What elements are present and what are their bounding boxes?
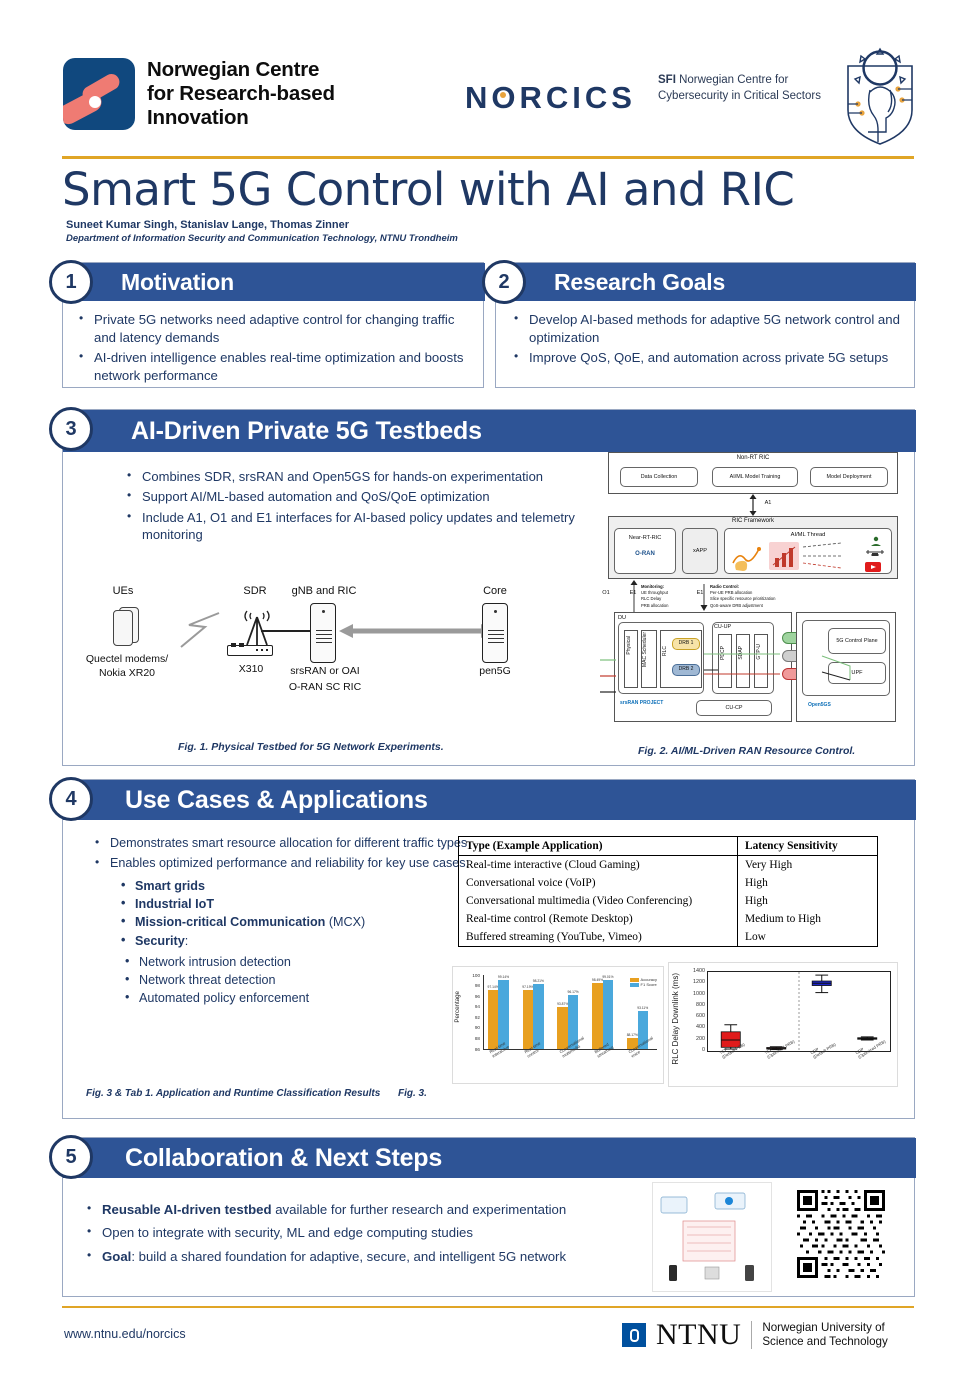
footer-url[interactable]: www.ntnu.edu/norcics: [64, 1327, 186, 1341]
gnb-server-icon: [310, 603, 336, 663]
collaboration-bullet-list: Reusable AI-driven testbed available for…: [85, 1200, 695, 1267]
y-tick-label: 86: [466, 1047, 480, 1052]
gnb-core-bidirectional-arrow: [337, 621, 497, 641]
testbeds-bullet-list: Combines SDR, srsRAN and Open5GS for han…: [125, 468, 620, 544]
aiml-model-training-box: AI/ML Model Training: [712, 467, 798, 487]
poster-header: Norwegian Centre for Research-based Inno…: [60, 38, 915, 148]
fig1-sdr-sub: X310: [223, 663, 279, 675]
ntnu-logo: NTNU Norwegian University of Science and…: [622, 1318, 888, 1352]
a1-label: A1: [760, 500, 776, 506]
model-deployment-box: Model Deployment: [810, 467, 888, 487]
y-tick-label: 1200: [685, 979, 705, 985]
non-rt-ric-label: Non-RT RIC: [608, 455, 898, 461]
youtube-icon: [865, 562, 881, 572]
norcics-tagline-prefix: SFI: [658, 74, 676, 86]
table-row: Conversational multimedia (Video Confere…: [459, 892, 878, 910]
o1-e1-arrows: [600, 578, 720, 612]
y-tick-label: 1400: [685, 968, 705, 974]
table-cell-type: Real-time control (Remote Desktop): [459, 910, 738, 928]
section-4-title: Use Cases & Applications: [125, 786, 428, 815]
bar-chart-legend: Accuracy F1 Score: [630, 977, 657, 987]
sfi-logo: Norwegian Centre for Research-based Inno…: [63, 58, 335, 130]
drone-icon: [863, 549, 887, 559]
table-row: Real-time interactive (Cloud Gaming)Very…: [459, 856, 878, 875]
sfi-logo-line1: Norwegian Centre: [147, 58, 335, 82]
bullet-rest: : build a shared foundation for adaptive…: [131, 1249, 566, 1264]
figure-3-bar-chart: Percentage 97.14%97.19%93.87%98.49%88.17…: [452, 966, 664, 1084]
ntnu-subtitle: Norwegian University of Science and Tech…: [762, 1321, 887, 1350]
bar-0-1: [523, 990, 533, 1049]
use-case-label: Mission-critical Communication: [135, 915, 325, 929]
list-item: Automated policy enforcement: [123, 989, 483, 1007]
list-item: AI-driven intelligence enables real-time…: [77, 349, 475, 384]
figure-2-ran-resource-control: Non-RT RIC Data Collection AI/ML Model T…: [600, 450, 905, 740]
core-server-icon: [482, 603, 508, 663]
list-item: Combines SDR, srsRAN and Open5GS for han…: [125, 468, 620, 485]
table-cell-type: Real-time interactive (Cloud Gaming): [459, 856, 738, 875]
bar-0-2: [557, 1007, 567, 1049]
section-4-body: Demonstrates smart resource allocation f…: [93, 835, 483, 1008]
section-4-header: 4 Use Cases & Applications: [63, 780, 916, 820]
y-tick-label: 94: [466, 1004, 480, 1009]
y-tick-label: 800: [685, 1002, 705, 1008]
table-cell-type: Conversational multimedia (Video Confere…: [459, 892, 738, 910]
research-goals-bullet-list: Develop AI-based methods for adaptive 5G…: [512, 311, 908, 367]
authors: Suneet Kumar Singh, Stanislav Lange, Tho…: [66, 219, 349, 231]
use-cases-bullet-list: Demonstrates smart resource allocation f…: [93, 835, 483, 872]
use-case-suffix: (MCX): [325, 915, 365, 929]
fig1-gnb-sub2: O-RAN SC RIC: [275, 681, 375, 693]
y-tick-label: 1000: [685, 991, 705, 997]
y-tick-label: 200: [685, 1036, 705, 1042]
fig1-sdr-title: SDR: [225, 585, 285, 597]
table-cell-latency: Medium to High: [738, 910, 878, 928]
security-sublist: Network intrusion detection Network thre…: [123, 953, 483, 1008]
section-5-number: 5: [49, 1135, 93, 1179]
y-tick-label: 98: [466, 983, 480, 988]
ntnu-subtitle-line1: Norwegian University of: [762, 1321, 887, 1335]
motivation-bullet-list: Private 5G networks need adaptive contro…: [77, 311, 475, 385]
section-3-body: Combines SDR, srsRAN and Open5GS for han…: [125, 468, 620, 547]
y-tick-label: 0: [685, 1047, 705, 1053]
section-1-title: Motivation: [121, 269, 234, 296]
list-item: Network intrusion detection: [123, 953, 483, 971]
table-row: Conversational voice (VoIP)High: [459, 874, 878, 892]
use-case-sublist: Smart grids Industrial IoT Mission-criti…: [119, 877, 483, 950]
fig1-gnb-sub1: srsRAN or OAI: [275, 665, 375, 677]
section-2-number: 2: [482, 260, 526, 304]
ntnu-subtitle-line2: Science and Technology: [762, 1335, 887, 1349]
box-plot-svg: [708, 972, 890, 1051]
figure-3-caption-right: Fig. 3.: [398, 1088, 427, 1099]
list-item: Enables optimized performance and reliab…: [93, 855, 483, 872]
section-3-header: 3 AI-Driven Private 5G Testbeds: [63, 410, 916, 452]
fig1-core-title: Core: [465, 585, 525, 597]
bar-value-label: 99.01%: [598, 975, 618, 979]
figure-3-caption-left: Fig. 3 & Tab 1. Application and Runtime …: [86, 1088, 380, 1099]
list-item: Industrial IoT: [119, 895, 483, 913]
ue-phone-icon: [113, 610, 133, 646]
section-1-number: 1: [49, 260, 93, 304]
bar-value-label: 96.17%: [563, 990, 583, 994]
fig1-ue-sub2: Nokia XR20: [67, 667, 187, 679]
latency-sensitivity-table: Type (Example Application) Latency Sensi…: [458, 836, 878, 947]
list-item: Reusable AI-driven testbed available for…: [85, 1200, 695, 1220]
data-collection-box: Data Collection: [620, 467, 698, 487]
table-cell-latency: High: [738, 874, 878, 892]
section-collaboration: 5 Collaboration & Next Steps Reusable AI…: [62, 1137, 915, 1297]
cybersecurity-shield-icon: [840, 44, 920, 149]
section-motivation: 1 Motivation Private 5G networks need ad…: [62, 262, 484, 388]
use-case-label: Industrial IoT: [135, 897, 214, 911]
ntnu-logo-divider: [751, 1321, 752, 1349]
list-item: Develop AI-based methods for adaptive 5G…: [512, 311, 908, 346]
figure-3-box-plot: RLC Delay Downlink (ms) 0200400600800100…: [668, 962, 898, 1087]
use-case-label: Smart grids: [135, 879, 205, 893]
aiml-thread-box: AI/ML Thread: [724, 528, 892, 574]
list-item: Open to integrate with security, ML and …: [85, 1223, 695, 1243]
box-chart-ylabel: RLC Delay Downlink (ms): [671, 973, 680, 1065]
list-item: Include A1, O1 and E1 interfaces for AI-…: [125, 509, 620, 544]
oran-logo: O-RAN: [615, 551, 675, 558]
bar-1-0: [498, 980, 508, 1049]
list-item: Private 5G networks need adaptive contro…: [77, 311, 475, 346]
bar-0-3: [592, 983, 602, 1049]
sfi-logo-text: Norwegian Centre for Research-based Inno…: [147, 58, 335, 129]
table-cell-latency: Low: [738, 928, 878, 947]
dashed-flow-arrows: [801, 537, 859, 575]
table-header-row: Type (Example Application) Latency Sensi…: [459, 837, 878, 856]
bullet-rest: Open to integrate with security, ML and …: [102, 1225, 473, 1240]
legend-label: F1 Score: [641, 982, 657, 987]
list-item: Improve QoS, QoE, and automation across …: [512, 349, 908, 367]
list-item: Smart grids: [119, 877, 483, 895]
near-rt-ric-label: Near-RT-RIC: [615, 535, 675, 541]
y-tick-label: 600: [685, 1013, 705, 1019]
bar-chart-ylabel: Percentage: [454, 991, 461, 1023]
y-tick-label: 96: [466, 994, 480, 999]
section-2-body: Develop AI-based methods for adaptive 5G…: [512, 311, 908, 370]
sfi-logo-line2: for Research-based: [147, 82, 335, 106]
person-antenna-icon: [865, 535, 887, 547]
list-item: Demonstrates smart resource allocation f…: [93, 835, 483, 852]
footer-divider: [62, 1306, 914, 1308]
section-3-title: AI-Driven Private 5G Testbeds: [131, 417, 482, 446]
y-tick-label: 88: [466, 1036, 480, 1041]
y-tick-label: 90: [466, 1025, 480, 1030]
section-5-body: Reusable AI-driven testbed available for…: [85, 1200, 695, 1270]
bar-value-label: 99.14%: [493, 975, 513, 979]
list-item: Security:: [119, 932, 483, 950]
box-plot-area: [707, 971, 891, 1052]
sdr-gnb-link: [261, 630, 311, 632]
fig1-ue-sub1: Quectel modems/: [67, 653, 187, 665]
ric-framework-label: RIC Framework: [608, 518, 898, 524]
bar-chart-icon: [769, 542, 799, 570]
list-item: Goal: build a shared foundation for adap…: [85, 1247, 695, 1267]
bar-y-axis: [483, 975, 484, 1049]
section-5-title: Collaboration & Next Steps: [125, 1144, 442, 1173]
ntnu-logo-mark: [622, 1323, 646, 1347]
bar-0-0: [488, 990, 498, 1049]
section-research-goals: 2 Research Goals Develop AI-based method…: [495, 262, 915, 388]
norcics-tagline-text: Norwegian Centre for Cybersecurity in Cr…: [658, 74, 821, 102]
table-header-type: Type (Example Application): [459, 837, 738, 856]
table-cell-latency: High: [738, 892, 878, 910]
fig1-core-sub: pen5G: [463, 665, 527, 677]
use-case-label: Security: [135, 934, 185, 948]
section-1-body: Private 5G networks need adaptive contro…: [77, 311, 475, 388]
page-title: Smart 5G Control with AI and RIC: [62, 163, 794, 216]
table-cell-type: Conversational voice (VoIP): [459, 874, 738, 892]
list-item: Support AI/ML-based automation and QoS/Q…: [125, 488, 620, 505]
testbed-thumbnail-image: [652, 1182, 772, 1292]
table-header-latency: Latency Sensitivity: [738, 837, 878, 856]
near-rt-ric-box: Near-RT-RIC O-RAN: [614, 528, 676, 574]
qr-code[interactable]: [797, 1190, 885, 1278]
fig2-connector-arrows: [600, 610, 905, 725]
sdr-device-icon: [227, 645, 273, 656]
sfi-logo-mark: [63, 58, 135, 130]
section-5-header: 5 Collaboration & Next Steps: [63, 1138, 916, 1178]
table-cell-type: Buffered streaming (YouTube, Vimeo): [459, 928, 738, 947]
list-item: Mission-critical Communication (MCX): [119, 913, 483, 931]
figure-1-physical-testbed: UEs Quectel modems/ Nokia XR20 SDR X310 …: [75, 585, 595, 715]
box-2: [812, 975, 831, 992]
section-2-header: 2 Research Goals: [496, 263, 916, 301]
table-cell-latency: Very High: [738, 856, 878, 875]
norcics-tagline: SFI Norwegian Centre for Cybersecurity i…: [658, 72, 823, 105]
norcics-logo: NORCICS: [465, 80, 636, 116]
table-row: Real-time control (Remote Desktop)Medium…: [459, 910, 878, 928]
y-tick-label: 400: [685, 1024, 705, 1030]
figure-2-caption: Fig. 2. AI/ML-Driven RAN Resource Contro…: [638, 745, 855, 757]
bullet-rest: available for further research and exper…: [272, 1202, 567, 1217]
bullet-bold: Reusable AI-driven testbed: [102, 1202, 272, 1217]
brain-icon: [733, 559, 749, 573]
section-2-title: Research Goals: [554, 269, 725, 296]
section-1-header: 1 Motivation: [63, 263, 485, 301]
a1-interface-arrow: [746, 494, 760, 516]
bullet-bold: Goal: [102, 1249, 131, 1264]
fig1-gnb-title: gNB and RIC: [279, 585, 369, 597]
bar-value-label: 98.21%: [528, 979, 548, 983]
poster-page: Norwegian Centre for Research-based Inno…: [0, 0, 974, 1389]
legend-item: F1 Score: [630, 982, 657, 987]
section-4-number: 4: [49, 777, 93, 821]
ntnu-wordmark: NTNU: [656, 1318, 741, 1352]
table-row: Buffered streaming (YouTube, Vimeo)Low: [459, 928, 878, 947]
y-tick-label: 100: [466, 973, 480, 978]
fig1-ue-title: UEs: [93, 585, 153, 597]
xapp-box: xAPP: [682, 528, 718, 574]
bar-1-3: [603, 980, 613, 1049]
bar-value-label: 93.11%: [633, 1006, 653, 1010]
section-3-number: 3: [49, 407, 93, 451]
header-divider: [62, 156, 914, 159]
bar-x-axis: [483, 1049, 657, 1050]
figure-1-caption: Fig. 1. Physical Testbed for 5G Network …: [178, 741, 444, 753]
affiliation: Department of Information Security and C…: [66, 233, 458, 244]
sfi-logo-line3: Innovation: [147, 106, 335, 130]
list-item: Network threat detection: [123, 971, 483, 989]
y-tick-label: 92: [466, 1015, 480, 1020]
use-case-suffix: :: [185, 934, 189, 948]
